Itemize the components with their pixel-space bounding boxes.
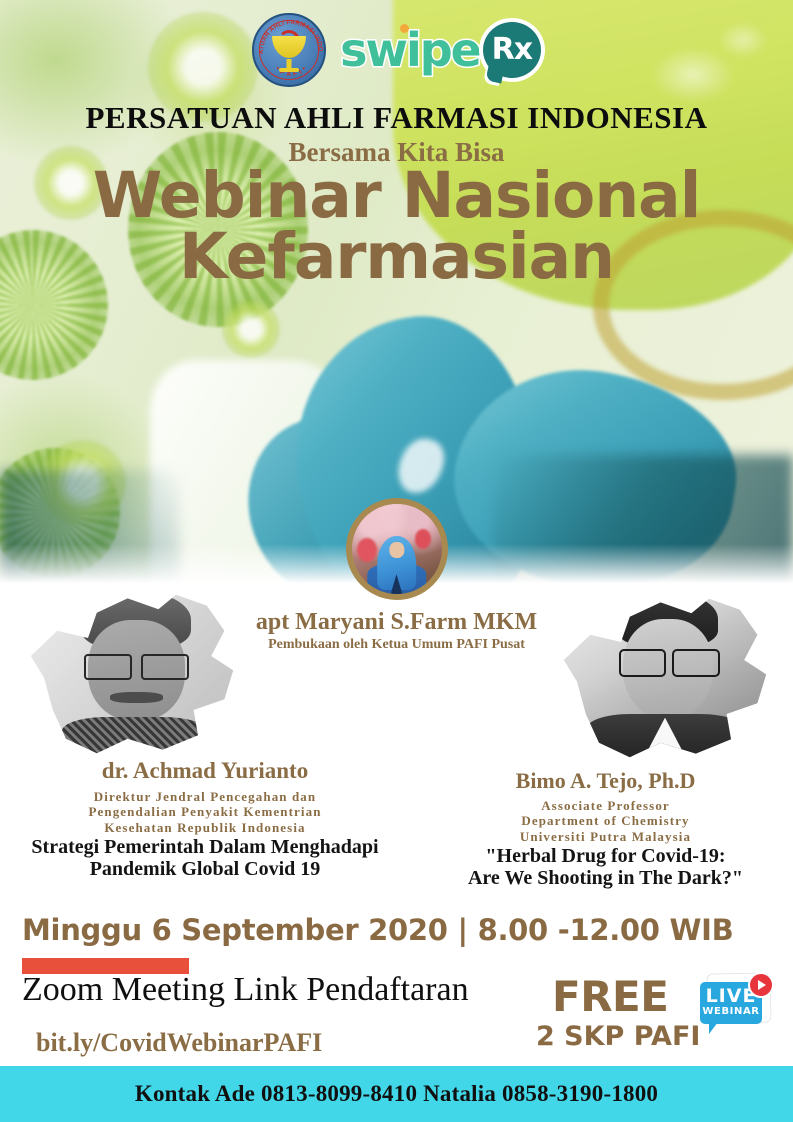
swiperx-wordmark: swipe xyxy=(340,23,480,77)
contact-text: Kontak Ade 0813-8099-8410 Natalia 0858-3… xyxy=(135,1081,658,1107)
brush-mask xyxy=(22,584,242,764)
rx-speech-bubble-icon: Rx xyxy=(483,22,541,78)
speaker-block-right: Bimo A. Tejo, Ph.D Associate Professor D… xyxy=(418,768,793,889)
avatar-decor xyxy=(357,538,377,561)
avatar-decor xyxy=(415,529,431,549)
speaker-photo-left xyxy=(22,584,242,764)
speaker-role-line: Associate Professor xyxy=(418,798,793,813)
speaker-role-line: Kesehatan Republik Indonesia xyxy=(0,820,410,835)
speaker-topic-left: Strategi Pemerintah Dalam Menghadapi Pan… xyxy=(0,837,410,880)
logo-row: PERSATUAN AHLI FARMASI INDONESIA * P A F… xyxy=(0,8,793,92)
speaker-block-left: dr. Achmad Yurianto Direktur Jendral Pen… xyxy=(0,758,410,880)
registration-link[interactable]: bit.ly/CovidWebinarPAFI xyxy=(36,1028,322,1058)
price-label: FREE xyxy=(552,972,668,1021)
page-title: Webinar Nasional Kefarmasian xyxy=(0,165,793,287)
platform-label: Zoom Meeting Link Pendaftaran xyxy=(22,971,469,1009)
brush-mask xyxy=(555,588,775,768)
speaker-role-line: Department of Chemistry xyxy=(418,813,793,828)
contact-bar: Kontak Ade 0813-8099-8410 Natalia 0858-3… xyxy=(0,1066,793,1122)
virus-circle-shape xyxy=(222,300,280,358)
credits-label: 2 SKP PAFI xyxy=(536,1021,700,1052)
pafi-logo: PERSATUAN AHLI FARMASI INDONESIA * P A F… xyxy=(252,13,326,87)
speaker-photo-right xyxy=(555,588,775,768)
avatar xyxy=(346,498,448,600)
event-datetime: Minggu 6 September 2020 | 8.00 -12.00 WI… xyxy=(22,913,733,947)
speaker-topic-right: "Herbal Drug for Covid-19: Are We Shooti… xyxy=(418,846,793,889)
speaker-name-left: dr. Achmad Yurianto xyxy=(0,758,410,784)
badge-webinar-label: WEBINAR xyxy=(700,1007,762,1017)
play-icon xyxy=(748,972,774,998)
speaker-role-line: Universiti Putra Malaysia xyxy=(418,829,793,844)
speaker-role-line: Pengendalian Penyakit Kementrian xyxy=(0,804,410,819)
swiperx-logo: swipe Rx xyxy=(340,22,541,78)
pafi-bowl-base xyxy=(279,68,299,72)
rx-label: Rx xyxy=(492,35,532,65)
glasses-icon xyxy=(84,654,190,676)
speaker-role-left: Direktur Jendral Pencegahan dan Pengenda… xyxy=(0,789,410,835)
speaker-role-right: Associate Professor Department of Chemis… xyxy=(418,798,793,844)
glasses-icon xyxy=(619,649,720,672)
speaker-role-line: Direktur Jendral Pencegahan dan xyxy=(0,789,410,804)
speaker-topic-line: Are We Shooting in The Dark?" xyxy=(418,868,793,890)
webinar-poster: PERSATUAN AHLI FARMASI INDONESIA * P A F… xyxy=(0,0,793,1122)
speaker-topic-line: Pandemik Global Covid 19 xyxy=(0,859,410,881)
avatar-face xyxy=(389,542,404,558)
speaker-name-right: Bimo A. Tejo, Ph.D xyxy=(418,768,793,794)
speaker-topic-line: Strategi Pemerintah Dalam Menghadapi xyxy=(0,837,410,859)
portrait-body xyxy=(62,717,207,764)
title-line-2: Kefarmasian xyxy=(0,226,793,287)
organization-name: PERSATUAN AHLI FARMASI INDONESIA xyxy=(0,100,793,136)
live-webinar-badge: LIVE WEBINAR xyxy=(696,972,776,1040)
portrait-mustache xyxy=(110,692,163,703)
speaker-topic-line: "Herbal Drug for Covid-19: xyxy=(418,846,793,868)
